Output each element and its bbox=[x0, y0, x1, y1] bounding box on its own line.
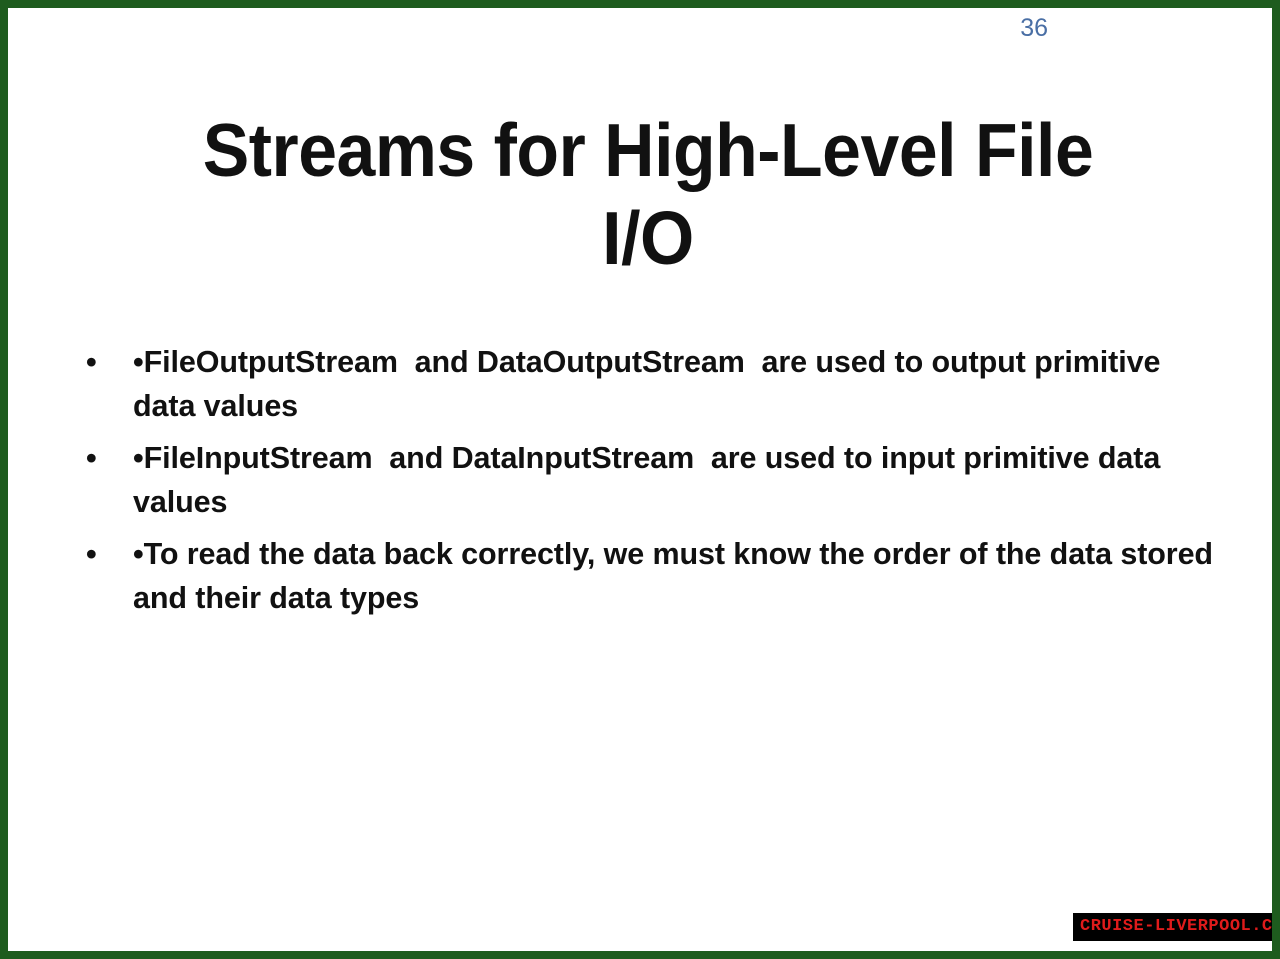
bullet-marker-icon: • bbox=[86, 436, 100, 480]
list-item-text: •To read the data back correctly, we mus… bbox=[133, 532, 1230, 620]
list-item-text: •FileOutputStream and DataOutputStream a… bbox=[133, 340, 1230, 428]
list-item: • •FileOutputStream and DataOutputStream… bbox=[70, 340, 1230, 428]
watermark-badge: CRUISE-LIVERPOOL.COM bbox=[1073, 913, 1280, 941]
bullet-list: • •FileOutputStream and DataOutputStream… bbox=[70, 340, 1230, 628]
page-number: 36 bbox=[8, 16, 1048, 41]
bullet-marker-icon: • bbox=[86, 532, 100, 576]
list-item: • •To read the data back correctly, we m… bbox=[70, 532, 1230, 620]
list-item-text: •FileInputStream and DataInputStream are… bbox=[133, 436, 1230, 524]
list-item: • •FileInputStream and DataInputStream a… bbox=[70, 436, 1230, 524]
slide-frame: 36 Streams for High-Level File I/O • •Fi… bbox=[0, 0, 1280, 959]
page-title: Streams for High-Level File I/O bbox=[164, 106, 1131, 282]
bullet-marker-icon: • bbox=[86, 340, 100, 384]
slide-canvas: 36 Streams for High-Level File I/O • •Fi… bbox=[8, 8, 1272, 951]
